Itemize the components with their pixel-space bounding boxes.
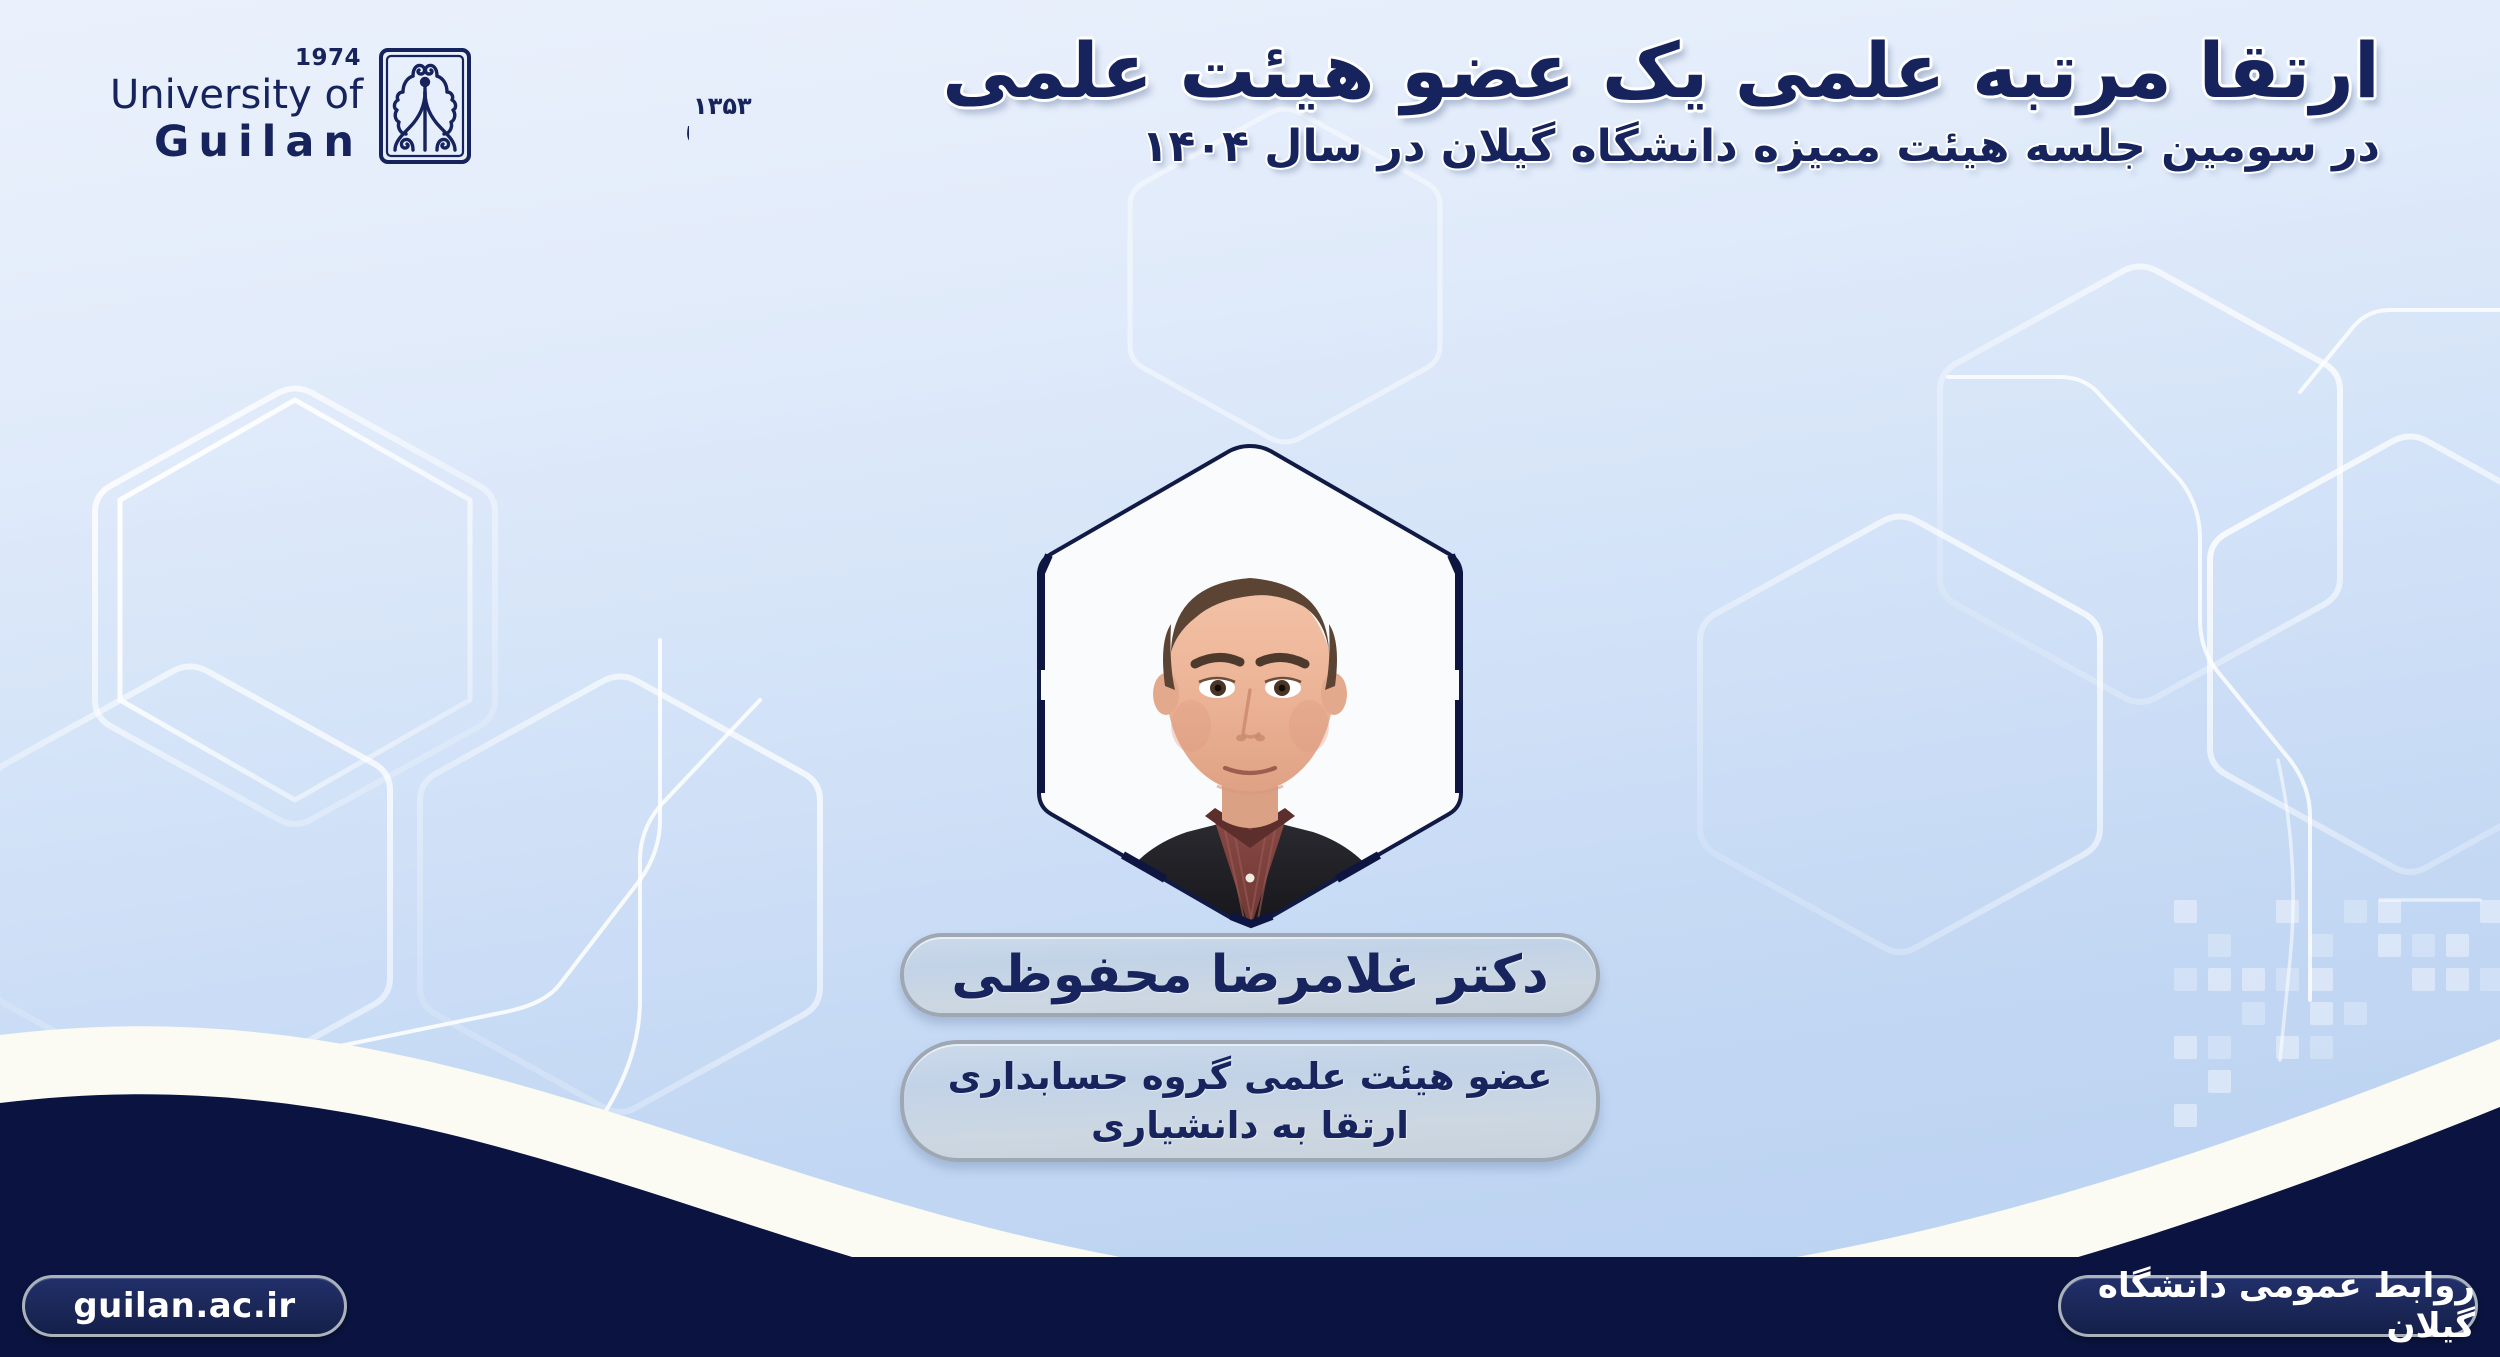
decor-square xyxy=(2174,900,2197,923)
public-relations-label: روابط عمومی دانشگاه گیلان xyxy=(2061,1266,2475,1346)
website-badge[interactable]: guilan.ac.ir xyxy=(22,1275,347,1337)
decor-square xyxy=(2480,900,2500,923)
university-logo: 1974 University of Guilan xyxy=(110,46,752,166)
website-url: guilan.ac.ir xyxy=(73,1286,295,1326)
decor-square xyxy=(2276,900,2299,923)
poster-canvas: 1974 University of Guilan xyxy=(0,0,2500,1357)
logo-english-line1: University of xyxy=(110,71,363,119)
page-subtitle: در سومین جلسه هیئت ممیزه دانشگاه گیلان د… xyxy=(942,121,2380,174)
logo-persian-year: ۱۳۵۳ xyxy=(693,92,752,120)
header-titles: ارتقا مرتبه علمی یک عضو هیئت علمی در سوم… xyxy=(942,28,2380,174)
guilan-university-emblem-icon xyxy=(377,46,473,166)
hexagon-portrait xyxy=(1019,438,1481,930)
logo-english-year: 1974 xyxy=(295,45,361,71)
svg-text:دانشگاه گیلان: دانشگاه گیلان xyxy=(684,92,689,150)
logo-english-text: 1974 University of Guilan xyxy=(110,47,371,165)
poster-header: 1974 University of Guilan xyxy=(0,0,2500,230)
public-relations-badge[interactable]: روابط عمومی دانشگاه گیلان xyxy=(2058,1275,2478,1337)
decor-square xyxy=(2378,900,2401,923)
logo-persian-text: ۱۳۵۳ دانشگاه گیلان xyxy=(479,46,752,166)
decor-square xyxy=(2344,900,2367,923)
logo-english-line2: Guilan xyxy=(110,119,363,165)
page-title: ارتقا مرتبه علمی یک عضو هیئت علمی xyxy=(942,28,2380,113)
profile-photo-frame xyxy=(1019,438,1481,930)
logo-persian-name-script: دانشگاه گیلان xyxy=(479,46,689,166)
